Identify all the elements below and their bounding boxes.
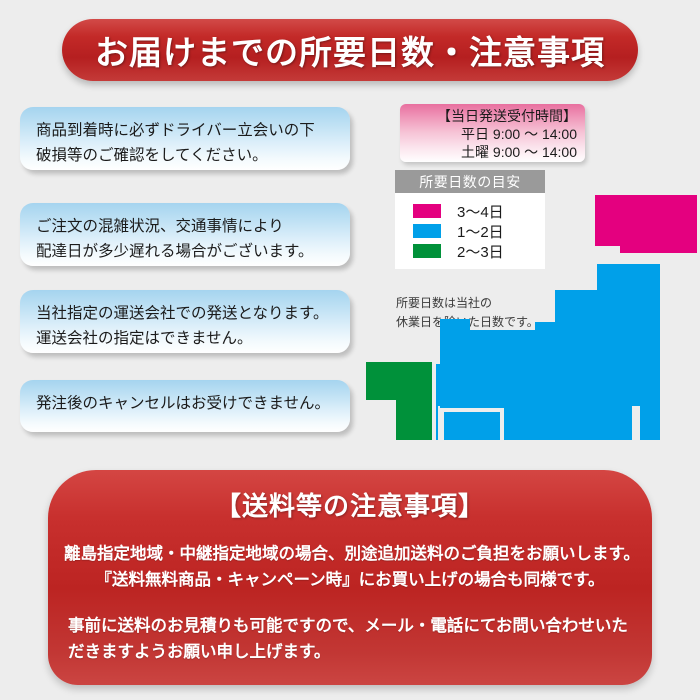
legend-footnote-line: 休業日を除いた日数です。	[396, 313, 566, 332]
note-line: ご注文の混雑状況、交通事情により	[36, 214, 336, 239]
legend-swatch-blue	[413, 224, 441, 238]
page-header-banner: お届けまでの所要日数・注意事項	[62, 19, 638, 81]
note-box-delivery-delay: ご注文の混雑状況、交通事情により 配達日が多少遅れる場合がございます。	[20, 203, 350, 266]
legend-row-honshu: 1～2日	[413, 221, 545, 241]
hours-weekday: 平日 9:00 ～ 14:00	[400, 125, 577, 143]
delivery-days-legend: 所要日数の目安 3～4日 1～2日 2～3日	[395, 170, 545, 269]
footer-line: 離島指定地域・中継指定地域の場合、別途追加送料のご負担をお願いします。	[64, 541, 636, 567]
map-region-kyushu	[366, 362, 432, 440]
note-line: 運送会社の指定はできません。	[36, 326, 336, 351]
legend-footnote: 所要日数は当社の 休業日を除いた日数です。	[396, 294, 566, 332]
note-line: 商品到着時に必ずドライバー立会いの下	[36, 118, 336, 143]
legend-label-hokkaido: 3～4日	[457, 201, 504, 222]
legend-swatch-green	[413, 244, 441, 258]
hours-title: 【当日発送受付時間】	[400, 107, 577, 125]
map-region-hokkaido	[595, 195, 697, 253]
shipping-fee-notice-panel: 【送料等の注意事項】 離島指定地域・中継指定地域の場合、別途追加送料のご負担をお…	[48, 470, 652, 685]
map-gap-mask-left	[362, 360, 436, 444]
map-gap-mask-shikoku	[438, 406, 504, 444]
note-line: 当社指定の運送会社での発送となります。	[36, 301, 336, 326]
legend-body: 3～4日 1～2日 2～3日	[395, 193, 545, 269]
note-box-carrier-designation: 当社指定の運送会社での発送となります。 運送会社の指定はできません。	[20, 290, 350, 353]
legend-row-kyushu: 2～3日	[413, 241, 545, 261]
footer-paragraph-1: 離島指定地域・中継指定地域の場合、別途追加送料のご負担をお願いします。 『送料無…	[48, 541, 652, 593]
footer-line: だきますようお願い申し上げます。	[64, 639, 636, 665]
footer-title: 【送料等の注意事項】	[48, 486, 652, 523]
note-box-arrival-inspection: 商品到着時に必ずドライバー立会いの下 破損等のご確認をしてください。	[20, 107, 350, 170]
note-line: 発注後のキャンセルはお受けできません。	[36, 391, 336, 416]
map-region-chugoku-kinki	[440, 264, 660, 440]
legend-footnote-line: 所要日数は当社の	[396, 294, 566, 313]
same-day-shipping-hours-box: 【当日発送受付時間】 平日 9:00 ～ 14:00 土曜 9:00 ～ 14:…	[400, 104, 585, 162]
note-line: 破損等のご確認をしてください。	[36, 143, 336, 168]
legend-row-hokkaido: 3～4日	[413, 201, 545, 221]
footer-line: 事前に送料のお見積りも可能ですので、メール・電話にてお問い合わせいた	[64, 613, 636, 639]
map-region-tohoku-kanto	[368, 264, 660, 440]
page-title: お届けまでの所要日数・注意事項	[95, 26, 605, 74]
legend-label-honshu: 1～2日	[457, 221, 504, 242]
footer-line: 『送料無料商品・キャンペーン時』にお買い上げの場合も同様です。	[64, 567, 636, 593]
note-line: 配達日が多少遅れる場合がございます。	[36, 239, 336, 264]
note-box-no-cancellation: 発注後のキャンセルはお受けできません。	[20, 380, 350, 432]
footer-paragraph-2: 事前に送料のお見積りも可能ですので、メール・電話にてお問い合わせいた だきますよ…	[48, 613, 652, 665]
legend-swatch-magenta	[413, 204, 441, 218]
legend-label-kyushu: 2～3日	[457, 241, 504, 262]
legend-header: 所要日数の目安	[395, 170, 545, 193]
map-region-shikoku	[444, 412, 500, 440]
hours-saturday: 土曜 9:00 ～ 14:00	[400, 143, 577, 161]
